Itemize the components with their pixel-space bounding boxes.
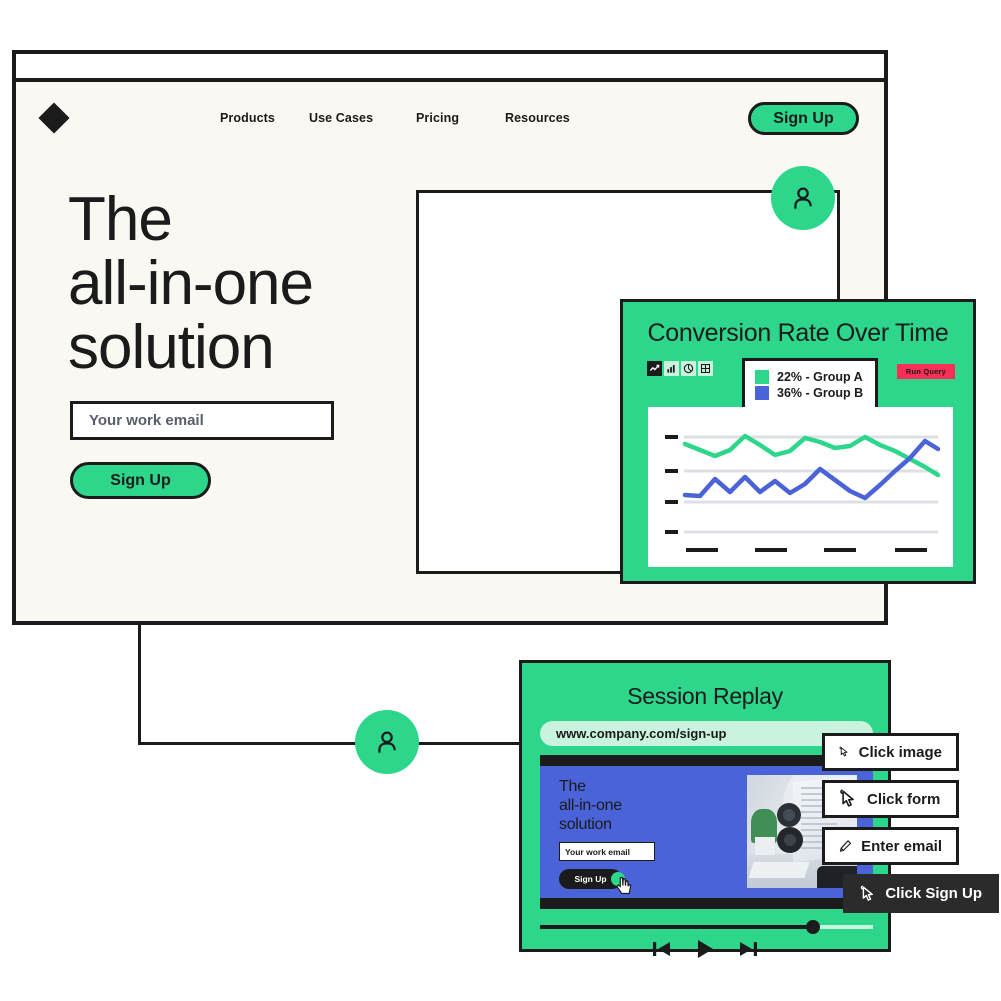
user-icon — [373, 728, 401, 756]
page-title: The all-in-one solution — [68, 188, 408, 380]
browser-title-bar — [16, 54, 884, 82]
scrubber-fill — [540, 925, 813, 929]
chart-plot-area — [648, 407, 953, 567]
replay-email-field[interactable]: Your work email — [559, 842, 655, 861]
skip-forward-icon[interactable] — [738, 940, 758, 958]
x-axis-tick — [895, 548, 927, 552]
x-axis-tick — [686, 548, 718, 552]
hand-cursor-icon — [615, 876, 633, 896]
hero-signup-button[interactable]: Sign Up — [70, 462, 211, 499]
action-chip-label: Click form — [867, 791, 940, 808]
action-chip-click-form[interactable]: Click form — [822, 780, 959, 818]
legend-swatch-group-b — [755, 386, 769, 400]
x-axis-tick — [755, 548, 787, 552]
chart-toolbar — [647, 361, 713, 376]
pie-chart-icon[interactable] — [681, 361, 696, 376]
action-chip-click-sign-up[interactable]: Click Sign Up — [843, 874, 999, 913]
nav-item-use-cases[interactable]: Use Cases — [309, 111, 373, 125]
user-icon — [789, 184, 817, 212]
scrubber-knob[interactable] — [806, 920, 820, 934]
action-chip-label: Click Sign Up — [885, 885, 982, 902]
nav-item-products[interactable]: Products — [220, 111, 275, 125]
grid-table-icon[interactable] — [698, 361, 713, 376]
playback-controls — [522, 938, 888, 960]
legend-item-group-b: 36% - Group B — [755, 386, 865, 400]
session-replay-title: Session Replay — [522, 683, 888, 710]
click-cursor-icon — [839, 789, 858, 809]
play-icon[interactable] — [694, 938, 716, 960]
user-node-top — [771, 166, 835, 230]
run-query-button[interactable]: Run Query — [897, 364, 955, 379]
action-chip-label: Click image — [859, 744, 942, 761]
replay-hero-title: The all-in-one solution — [559, 777, 694, 834]
skip-back-icon[interactable] — [652, 940, 672, 958]
action-chip-click-image[interactable]: Click image — [822, 733, 959, 771]
wire-herosignup-right — [138, 742, 368, 745]
legend-item-group-a: 22% - Group A — [755, 370, 865, 384]
line-chart-icon[interactable] — [647, 361, 662, 376]
wire-avatar-to-replay — [406, 742, 524, 745]
nav-item-resources[interactable]: Resources — [505, 111, 570, 125]
playback-scrubber[interactable] — [540, 925, 873, 929]
chart-card: Conversion Rate Over Time — [620, 299, 976, 584]
pencil-icon — [839, 836, 852, 856]
chart-lines — [648, 407, 953, 567]
action-chip-label: Enter email — [861, 838, 942, 855]
click-cursor-icon — [860, 884, 876, 904]
canvas: Products Use Cases Pricing Resources Sig… — [0, 0, 1001, 1001]
chart-legend: 22% - Group A 36% - Group B — [742, 358, 878, 412]
chart-title: Conversion Rate Over Time — [623, 319, 973, 348]
nav-item-pricing[interactable]: Pricing — [416, 111, 459, 125]
main-nav: Products Use Cases Pricing Resources — [220, 111, 640, 129]
x-axis-tick — [824, 548, 856, 552]
bar-chart-icon[interactable] — [664, 361, 679, 376]
user-node-bottom — [355, 710, 419, 774]
legend-label-group-b: 36% - Group B — [777, 386, 863, 400]
legend-label-group-a: 22% - Group A — [777, 370, 863, 384]
legend-swatch-group-a — [755, 370, 769, 384]
click-cursor-icon — [839, 742, 850, 762]
nav-signup-button[interactable]: Sign Up — [748, 102, 859, 135]
action-chip-enter-email[interactable]: Enter email — [822, 827, 959, 865]
email-field[interactable]: Your work email — [70, 401, 334, 440]
